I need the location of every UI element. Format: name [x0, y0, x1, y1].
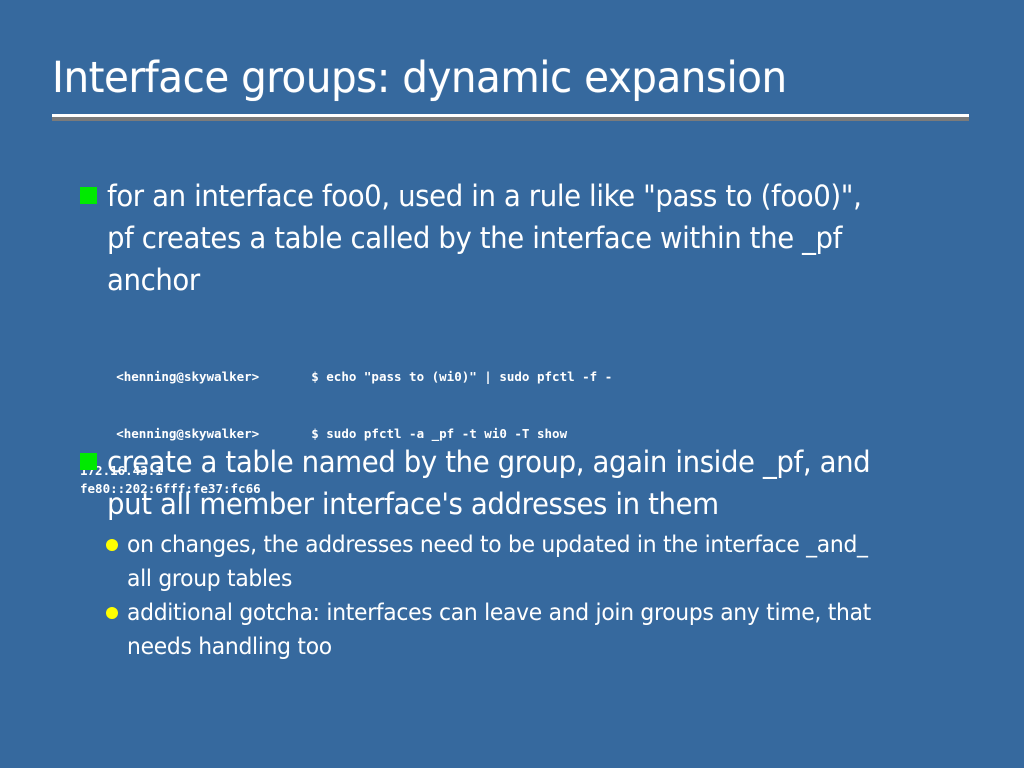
title-underline-body: [52, 117, 969, 121]
dot-bullet-icon: [106, 539, 118, 551]
title-block: Interface groups: dynamic expansion: [52, 52, 972, 104]
sub-bullet-item-2: additional gotcha: interfaces can leave …: [106, 596, 936, 664]
sub-bullet-item-2-text: additional gotcha: interfaces can leave …: [127, 596, 896, 664]
slide-canvas: Interface groups: dynamic expansion for …: [0, 0, 1024, 768]
dot-bullet-icon: [106, 607, 118, 619]
bullet-item-1-text: for an interface foo0, used in a rule li…: [107, 175, 870, 301]
terminal-command-2: $ sudo pfctl -a _pf -t wi0 -T show: [311, 426, 567, 441]
bullet-item-2: create a table named by the group, again…: [80, 441, 940, 525]
terminal-command-1: $ echo "pass to (wi0)" | sudo pfctl -f -: [311, 369, 612, 384]
sub-bullet-item-1-text: on changes, the addresses need to be upd…: [127, 528, 886, 596]
bullet-item-2-text: create a table named by the group, again…: [107, 441, 898, 525]
page-title: Interface groups: dynamic expansion: [52, 52, 917, 104]
square-bullet-icon: [80, 187, 97, 204]
terminal-prompt-1: <henning@skywalker>: [116, 367, 311, 386]
terminal-command-line-1: <henning@skywalker>$ echo "pass to (wi0)…: [56, 348, 816, 405]
sub-bullet-item-1: on changes, the addresses need to be upd…: [106, 528, 926, 596]
bullet-item-1: for an interface foo0, used in a rule li…: [80, 175, 910, 301]
square-bullet-icon: [80, 453, 97, 470]
title-underline: [52, 114, 969, 121]
